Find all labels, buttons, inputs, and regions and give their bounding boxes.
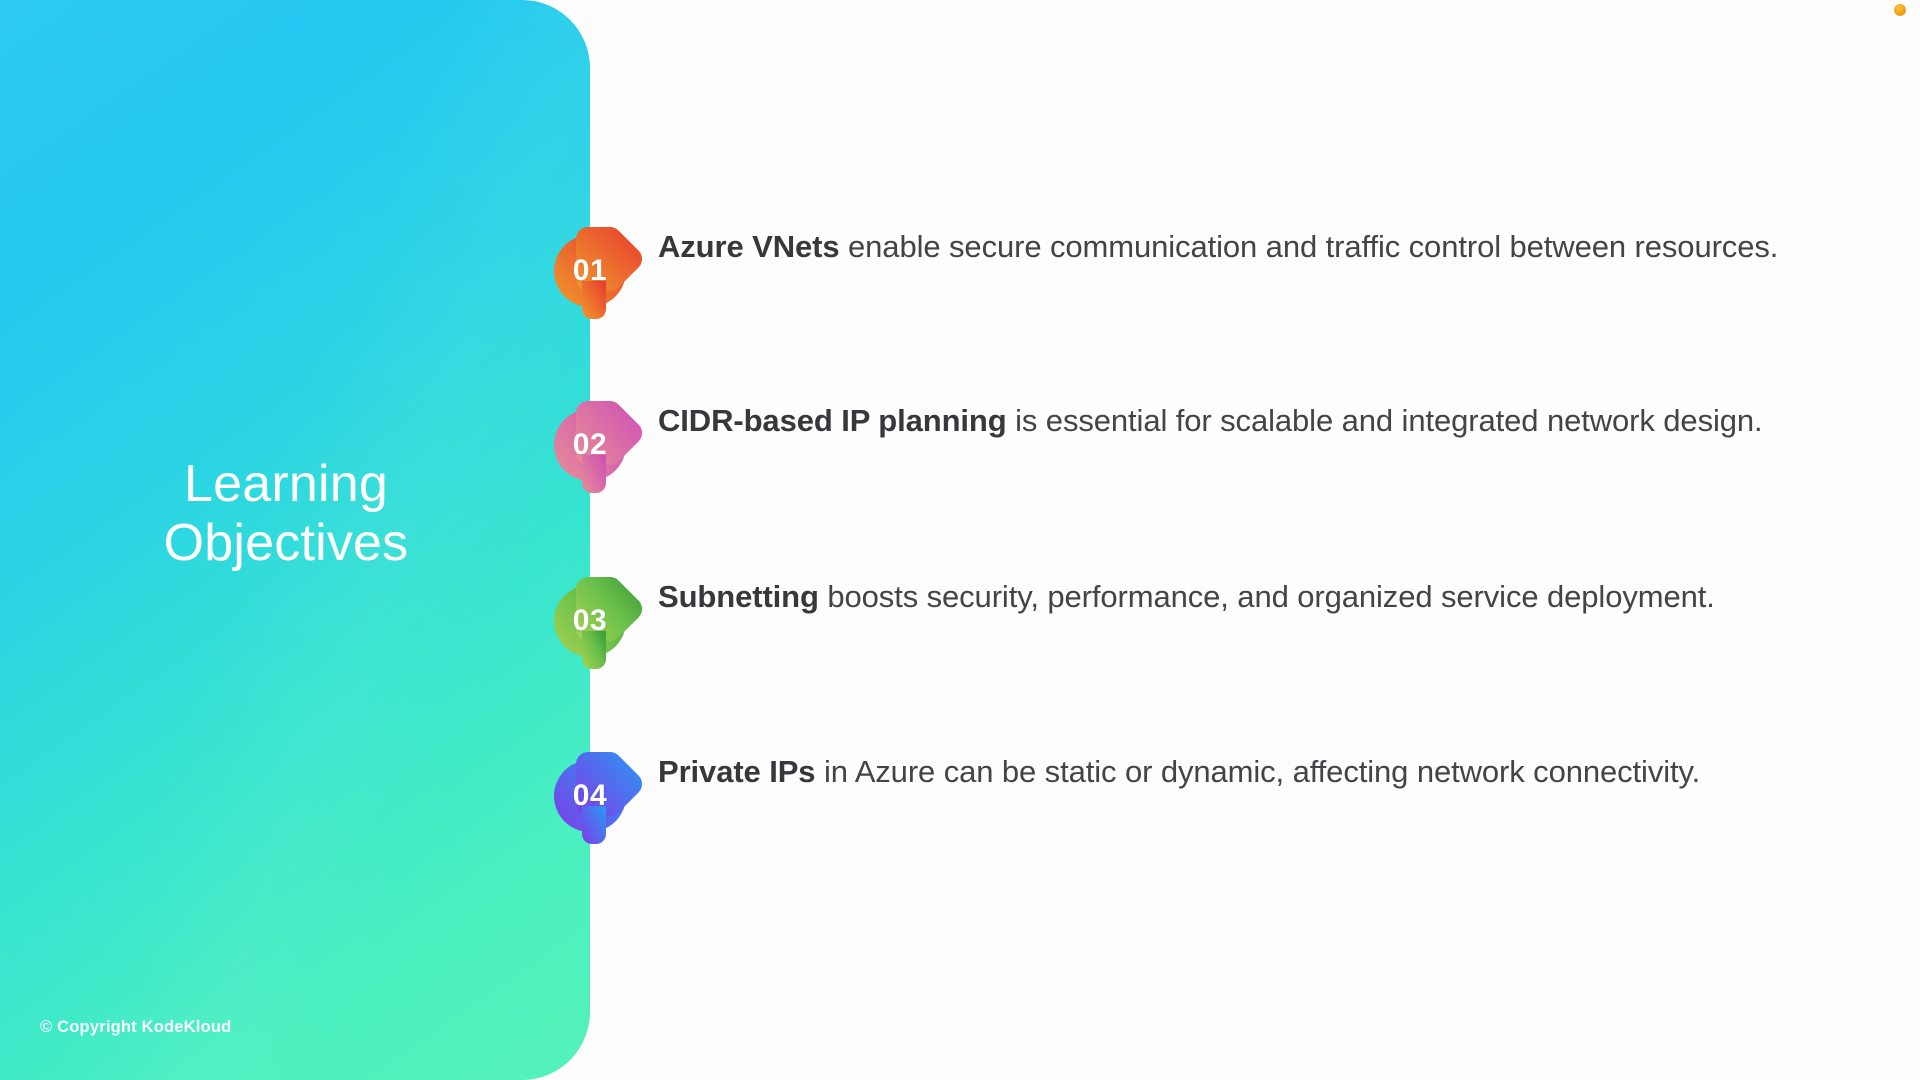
objective-rest: in Azure can be static or dynamic, affec… bbox=[815, 754, 1700, 789]
objective-lead: Azure VNets bbox=[658, 229, 840, 264]
list-item: 02 CIDR-based IP planning is essential f… bbox=[548, 389, 1888, 509]
objective-rest: boosts security, performance, and organi… bbox=[819, 579, 1715, 614]
objective-number: 03 bbox=[548, 567, 632, 675]
list-item: 03 Subnetting boosts security, performan… bbox=[548, 565, 1888, 685]
objective-rest: enable secure communication and traffic … bbox=[840, 229, 1779, 264]
objectives-list: 01 Azure VNets enable secure communicati… bbox=[0, 0, 1920, 1080]
accent-dot-icon bbox=[1894, 4, 1906, 16]
slide-canvas: Learning Objectives © Copyright KodeKlou… bbox=[0, 0, 1920, 1080]
objective-lead: Subnetting bbox=[658, 579, 819, 614]
list-item: 01 Azure VNets enable secure communicati… bbox=[548, 215, 1888, 335]
objective-text: CIDR-based IP planning is essential for … bbox=[658, 401, 1763, 441]
objective-badge-01: 01 bbox=[548, 217, 644, 325]
list-item: 04 Private IPs in Azure can be static or… bbox=[548, 740, 1888, 860]
objective-text: Azure VNets enable secure communication … bbox=[658, 227, 1778, 267]
objective-badge-04: 04 bbox=[548, 742, 644, 850]
objective-badge-03: 03 bbox=[548, 567, 644, 675]
objective-number: 04 bbox=[548, 742, 632, 850]
objective-lead: CIDR-based IP planning bbox=[658, 403, 1007, 438]
objective-lead: Private IPs bbox=[658, 754, 815, 789]
objective-text: Subnetting boosts security, performance,… bbox=[658, 577, 1715, 617]
objective-number: 01 bbox=[548, 217, 632, 325]
objective-rest: is essential for scalable and integrated… bbox=[1007, 403, 1763, 438]
objective-number: 02 bbox=[548, 391, 632, 499]
objective-badge-02: 02 bbox=[548, 391, 644, 499]
objective-text: Private IPs in Azure can be static or dy… bbox=[658, 752, 1700, 792]
